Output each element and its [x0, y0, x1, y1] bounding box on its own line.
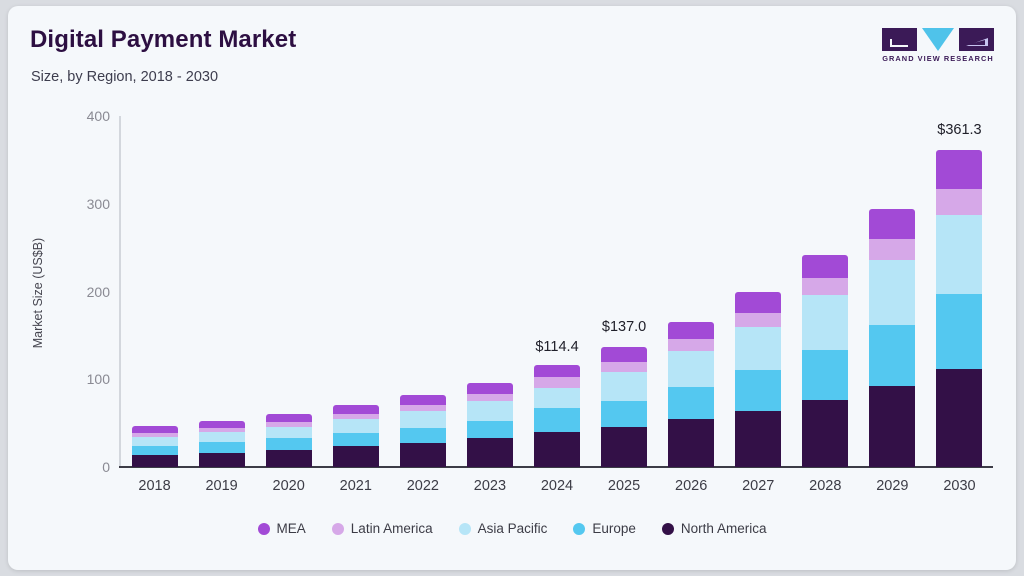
bar-segment-2029-latin-america[interactable] — [869, 239, 915, 260]
bar-2027[interactable] — [735, 292, 781, 467]
bar-segment-2027-latin-america[interactable] — [735, 313, 781, 327]
legend-item-latin-america[interactable]: Latin America — [332, 521, 433, 536]
x-axis-tick-2018: 2018 — [138, 478, 170, 494]
bar-segment-2027-asia-pacific[interactable] — [735, 327, 781, 370]
legend-swatch-icon — [459, 523, 471, 535]
bar-segment-2026-mea[interactable] — [668, 322, 714, 339]
bar-segment-2022-mea[interactable] — [400, 395, 446, 405]
bars-container — [121, 116, 993, 467]
legend-swatch-icon — [662, 523, 674, 535]
bar-2023[interactable] — [467, 383, 513, 467]
bar-value-label-2025: $137.0 — [602, 319, 646, 335]
x-axis-tick-2029: 2029 — [876, 478, 908, 494]
bar-value-label-2030: $361.3 — [937, 122, 981, 138]
bar-segment-2029-europe[interactable] — [869, 325, 915, 386]
x-axis-tick-2024: 2024 — [541, 478, 573, 494]
x-axis-tick-2019: 2019 — [205, 478, 237, 494]
x-axis-tick-2027: 2027 — [742, 478, 774, 494]
legend-label: Asia Pacific — [478, 521, 548, 536]
bar-2022[interactable] — [400, 395, 446, 467]
y-axis-label: Market Size (US$B) — [31, 193, 45, 393]
bar-segment-2029-asia-pacific[interactable] — [869, 260, 915, 324]
bar-segment-2026-europe[interactable] — [668, 387, 714, 419]
legend-item-asia-pacific[interactable]: Asia Pacific — [459, 521, 548, 536]
bar-segment-2030-asia-pacific[interactable] — [936, 215, 982, 294]
bar-segment-2028-asia-pacific[interactable] — [802, 295, 848, 349]
legend-label: Latin America — [351, 521, 433, 536]
bar-segment-2024-asia-pacific[interactable] — [534, 388, 580, 407]
bar-segment-2022-asia-pacific[interactable] — [400, 411, 446, 428]
bar-segment-2021-mea[interactable] — [333, 405, 379, 414]
bar-value-label-2024: $114.4 — [535, 339, 578, 355]
x-axis-tick-2030: 2030 — [943, 478, 975, 494]
bar-segment-2024-latin-america[interactable] — [534, 377, 580, 388]
y-axis-tick-400: 400 — [56, 108, 110, 124]
bar-segment-2021-north-america[interactable] — [333, 446, 379, 467]
bar-segment-2028-mea[interactable] — [802, 255, 848, 279]
bar-segment-2024-north-america[interactable] — [534, 432, 580, 467]
bar-segment-2029-mea[interactable] — [869, 209, 915, 240]
x-axis-tick-2025: 2025 — [608, 478, 640, 494]
legend-item-europe[interactable]: Europe — [573, 521, 636, 536]
bar-segment-2028-north-america[interactable] — [802, 400, 848, 467]
bar-segment-2029-north-america[interactable] — [869, 386, 915, 467]
bar-2018[interactable] — [132, 426, 178, 467]
bar-segment-2018-north-america[interactable] — [132, 455, 178, 467]
legend-item-mea[interactable]: MEA — [258, 521, 306, 536]
bar-segment-2018-mea[interactable] — [132, 426, 178, 433]
bar-segment-2023-europe[interactable] — [467, 421, 513, 439]
bar-2021[interactable] — [333, 405, 379, 467]
legend-swatch-icon — [332, 523, 344, 535]
bar-segment-2027-north-america[interactable] — [735, 411, 781, 467]
bar-segment-2024-mea[interactable] — [534, 365, 580, 377]
bar-segment-2024-europe[interactable] — [534, 408, 580, 432]
bar-2019[interactable] — [199, 421, 245, 467]
bar-segment-2025-asia-pacific[interactable] — [601, 372, 647, 401]
bar-segment-2025-mea[interactable] — [601, 347, 647, 362]
bar-segment-2030-north-america[interactable] — [936, 369, 982, 467]
bar-2030[interactable] — [936, 150, 982, 467]
bar-segment-2023-mea[interactable] — [467, 383, 513, 394]
bar-segment-2018-europe[interactable] — [132, 446, 178, 455]
x-axis-tick-2026: 2026 — [675, 478, 707, 494]
bar-segment-2020-europe[interactable] — [266, 438, 312, 449]
bar-segment-2025-latin-america[interactable] — [601, 362, 647, 372]
bar-segment-2027-europe[interactable] — [735, 370, 781, 411]
bar-2029[interactable] — [869, 209, 915, 467]
bar-segment-2026-north-america[interactable] — [668, 419, 714, 467]
bar-2024[interactable] — [534, 365, 580, 467]
bar-segment-2027-mea[interactable] — [735, 292, 781, 312]
y-axis-tick-100: 100 — [56, 371, 110, 387]
y-axis-tick-0: 0 — [56, 459, 110, 475]
bar-segment-2018-asia-pacific[interactable] — [132, 437, 178, 446]
bar-2028[interactable] — [802, 255, 848, 467]
bar-2026[interactable] — [668, 322, 714, 467]
bar-segment-2019-asia-pacific[interactable] — [199, 432, 245, 442]
bar-2020[interactable] — [266, 414, 312, 467]
bar-segment-2028-latin-america[interactable] — [802, 278, 848, 295]
legend-label: MEA — [277, 521, 306, 536]
chart-legend: MEALatin AmericaAsia PacificEuropeNorth … — [8, 521, 1016, 536]
bar-segment-2019-north-america[interactable] — [199, 453, 245, 467]
bar-segment-2020-north-america[interactable] — [266, 450, 312, 467]
x-axis-tick-2028: 2028 — [809, 478, 841, 494]
bar-segment-2019-europe[interactable] — [199, 442, 245, 452]
bar-segment-2020-asia-pacific[interactable] — [266, 427, 312, 439]
x-axis-tick-2023: 2023 — [474, 478, 506, 494]
legend-item-north-america[interactable]: North America — [662, 521, 767, 536]
bar-segment-2019-mea[interactable] — [199, 421, 245, 428]
bar-segment-2028-europe[interactable] — [802, 350, 848, 400]
bar-2025[interactable] — [601, 347, 647, 467]
legend-swatch-icon — [573, 523, 585, 535]
legend-label: North America — [681, 521, 767, 536]
bar-segment-2025-europe[interactable] — [601, 401, 647, 427]
bar-segment-2021-asia-pacific[interactable] — [333, 419, 379, 433]
bar-segment-2020-mea[interactable] — [266, 414, 312, 422]
bar-segment-2026-asia-pacific[interactable] — [668, 351, 714, 387]
chart-card: Digital Payment Market Size, by Region, … — [8, 6, 1016, 570]
bar-segment-2030-mea[interactable] — [936, 150, 982, 189]
bar-segment-2023-latin-america[interactable] — [467, 394, 513, 401]
x-axis-tick-2021: 2021 — [340, 478, 372, 494]
chart-plot-area: Market Size (US$B) 0100200300400 2018201… — [8, 6, 1016, 570]
bar-segment-2023-asia-pacific[interactable] — [467, 401, 513, 421]
bar-segment-2021-europe[interactable] — [333, 433, 379, 446]
bar-segment-2030-europe[interactable] — [936, 294, 982, 369]
bar-segment-2022-europe[interactable] — [400, 428, 446, 443]
x-axis-tick-2020: 2020 — [273, 478, 305, 494]
bar-segment-2026-latin-america[interactable] — [668, 339, 714, 351]
y-axis-tick-300: 300 — [56, 196, 110, 212]
bar-segment-2030-latin-america[interactable] — [936, 189, 982, 215]
legend-label: Europe — [592, 521, 636, 536]
bar-segment-2023-north-america[interactable] — [467, 438, 513, 467]
x-axis-tick-2022: 2022 — [407, 478, 439, 494]
bar-segment-2025-north-america[interactable] — [601, 427, 647, 467]
bar-segment-2022-north-america[interactable] — [400, 443, 446, 467]
y-axis-tick-200: 200 — [56, 284, 110, 300]
legend-swatch-icon — [258, 523, 270, 535]
